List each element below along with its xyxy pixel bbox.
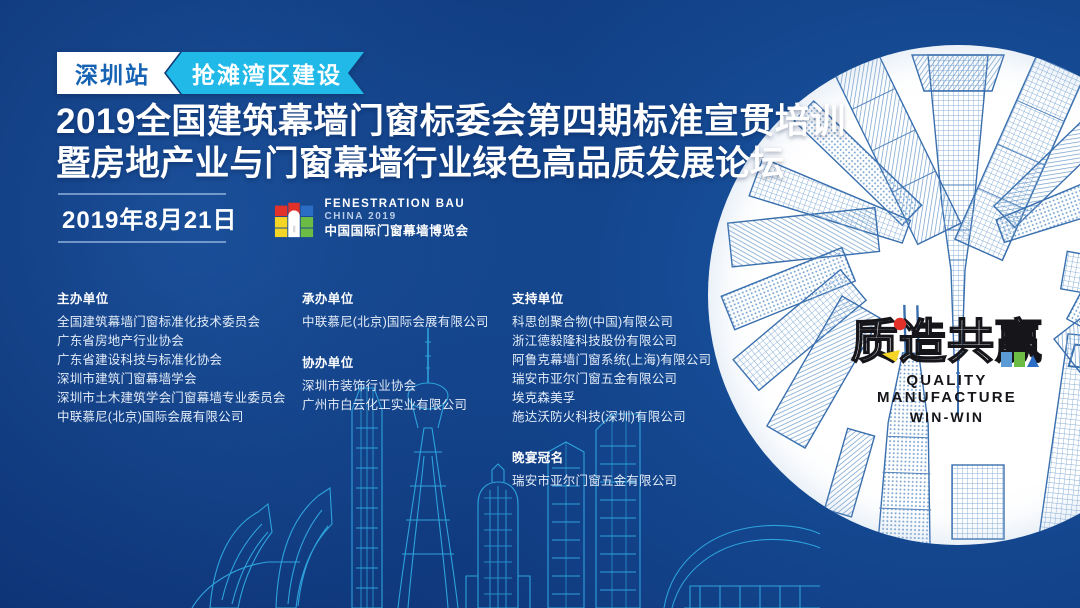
event-date-text: 2019年8月21日	[62, 200, 237, 235]
slogan-english-line-1: QUALITY MANUFACTURE	[836, 372, 1058, 406]
colored-building-blocks-icon	[273, 197, 315, 239]
fenestration-name-cn: 中国国际门窗幕墙博览会	[324, 224, 468, 239]
sponsor-group-title: 晚宴冠名	[512, 447, 772, 466]
sponsor-item: 埃克森美孚	[512, 389, 772, 408]
sponsor-item: 全国建筑幕墙门窗标准化技术委员会	[57, 313, 302, 332]
sponsor-item: 科思创聚合物(中国)有限公司	[512, 313, 772, 332]
title-line-2: 暨房地产业与门窗幕墙行业绿色高品质发展论坛	[56, 143, 796, 186]
sponsor-item: 瑞安市亚尔门窗五金有限公司	[512, 472, 772, 491]
sponsor-item: 深圳市建筑门窗幕墙学会	[57, 370, 302, 389]
sponsor-column-2: 承办单位 中联慕尼(北京)国际会展有限公司 协办单位 深圳市装饰行业协会 广州市…	[302, 288, 512, 511]
slogan-english-line-2: WIN-WIN	[836, 409, 1058, 425]
sponsor-group: 主办单位 全国建筑幕墙门窗标准化技术委员会 广东省房地产行业协会 广东省建设科技…	[57, 288, 302, 427]
sponsor-item: 广州市白云化工实业有限公司	[302, 396, 512, 415]
sponsor-group: 协办单位 深圳市装饰行业协会 广州市白云化工实业有限公司	[302, 352, 512, 415]
sponsor-group-title: 支持单位	[512, 288, 772, 307]
sponsor-columns: 主办单位 全国建筑幕墙门窗标准化技术委员会 广东省房地产行业协会 广东省建设科技…	[57, 288, 777, 511]
page-title: 2019全国建筑幕墙门窗标委会第四期标准宣贯培训 暨房地产业与门窗幕墙行业绿色高…	[56, 100, 796, 186]
sponsor-group-title: 主办单位	[57, 288, 302, 307]
sponsor-item: 阿鲁克幕墙门窗系统(上海)有限公司	[512, 351, 772, 370]
ribbon-station-label: 深圳站	[57, 52, 180, 94]
slogan-chinese-characters: 质造共赢	[838, 312, 1056, 374]
sponsor-item: 瑞安市亚尔门窗五金有限公司	[512, 370, 772, 389]
event-date: 2019年8月21日	[58, 193, 241, 243]
event-meta-row: 2019年8月21日 FENESTRATION BAU CHINA 2019 中…	[58, 193, 469, 243]
fenestration-bau-logo: FENESTRATION BAU CHINA 2019 中国国际门窗幕墙博览会	[273, 197, 468, 239]
sponsor-group: 支持单位 科思创聚合物(中国)有限公司 浙江德毅隆科技股份有限公司 阿鲁克幕墙门…	[512, 288, 772, 427]
slogan-red-dot	[894, 318, 906, 330]
sponsor-item: 浙江德毅隆科技股份有限公司	[512, 332, 772, 351]
slogan-green-block	[1014, 352, 1025, 367]
ribbon-slogan-label: 抢滩湾区建设	[166, 52, 364, 94]
sponsor-item: 深圳市土木建筑学会门窗幕墙专业委员会	[57, 389, 302, 408]
sponsor-item: 中联慕尼(北京)国际会展有限公司	[57, 408, 302, 427]
sponsor-item: 广东省房地产行业协会	[57, 332, 302, 351]
sponsor-group: 晚宴冠名 瑞安市亚尔门窗五金有限公司	[512, 447, 772, 491]
sponsor-item: 中联慕尼(北京)国际会展有限公司	[302, 313, 512, 332]
sponsor-group-title: 协办单位	[302, 352, 512, 371]
slogan-blue-block	[1001, 352, 1012, 367]
sponsor-item: 施达沃防火科技(深圳)有限公司	[512, 408, 772, 427]
poster-canvas: 深圳站 抢滩湾区建设 2019全国建筑幕墙门窗标委会第四期标准宣贯培训 暨房地产…	[0, 0, 1080, 608]
sponsor-group-title: 承办单位	[302, 288, 512, 307]
sponsor-group: 承办单位 中联慕尼(北京)国际会展有限公司	[302, 288, 512, 332]
sponsor-item: 深圳市装饰行业协会	[302, 377, 512, 396]
event-ribbon: 深圳站 抢滩湾区建设	[57, 52, 364, 94]
fenestration-name-en-2: CHINA 2019	[324, 211, 468, 223]
fenestration-name-en-1: FENESTRATION BAU	[324, 197, 468, 211]
sponsor-column-3: 支持单位 科思创聚合物(中国)有限公司 浙江德毅隆科技股份有限公司 阿鲁克幕墙门…	[512, 288, 772, 511]
fenestration-logo-text: FENESTRATION BAU CHINA 2019 中国国际门窗幕墙博览会	[324, 197, 468, 239]
sponsor-column-1: 主办单位 全国建筑幕墙门窗标准化技术委员会 广东省房地产行业协会 广东省建设科技…	[57, 288, 302, 511]
title-line-1: 2019全国建筑幕墙门窗标委会第四期标准宣贯培训	[56, 100, 796, 143]
sponsor-item: 广东省建设科技与标准化协会	[57, 351, 302, 370]
quality-manufacture-logo: 质造共赢 QUALITY MANUFACTURE WIN-WIN	[836, 312, 1058, 425]
